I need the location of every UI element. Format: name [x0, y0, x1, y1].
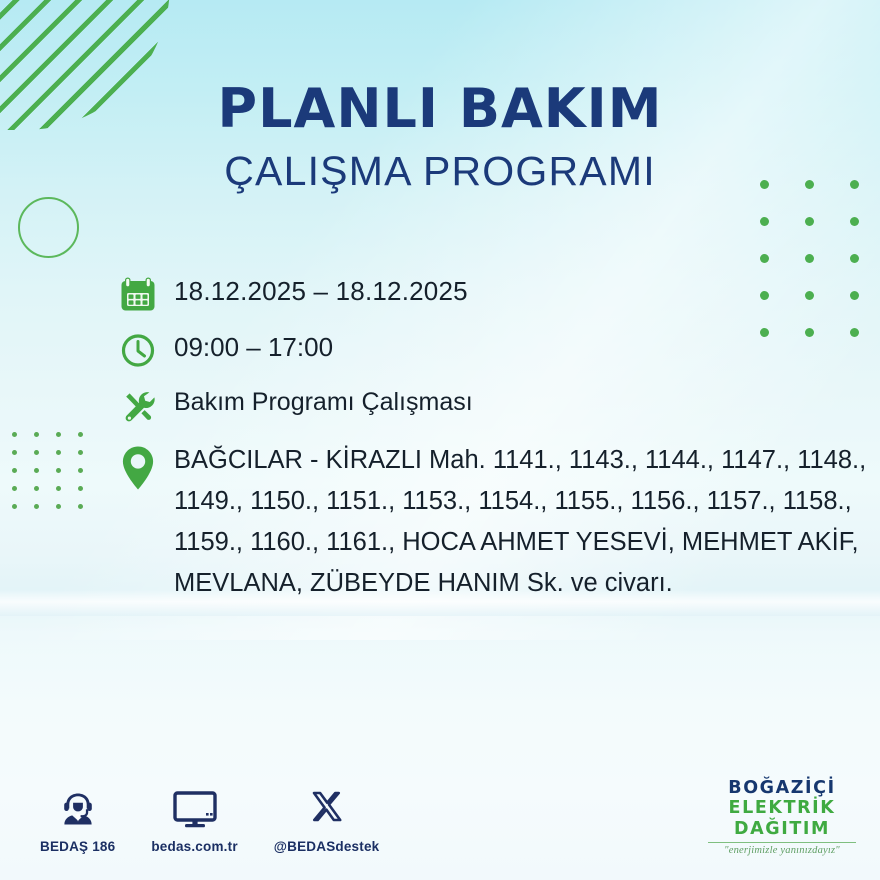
brand-line-bogazici: BOĞAZİÇİ	[702, 778, 862, 798]
detail-row-date: 18.12.2025 – 18.12.2025	[118, 272, 878, 314]
calendar-icon	[118, 272, 174, 314]
contact-phone[interactable]: BEDAŞ 186	[40, 780, 115, 854]
dot	[12, 432, 17, 437]
dot	[78, 486, 83, 491]
contact-list: BEDAŞ 186 bedas.com.tr	[40, 780, 415, 854]
dot	[56, 450, 61, 455]
dot	[760, 217, 769, 226]
dot	[12, 504, 17, 509]
dot	[78, 432, 83, 437]
contact-website-label: bedas.com.tr	[151, 839, 237, 854]
dot	[78, 468, 83, 473]
dot	[34, 432, 39, 437]
dot	[56, 468, 61, 473]
headset-operator-icon	[57, 780, 99, 830]
dot	[78, 450, 83, 455]
contact-website[interactable]: bedas.com.tr	[151, 780, 237, 854]
clock-icon	[118, 328, 174, 370]
dot	[34, 450, 39, 455]
dot	[805, 254, 814, 263]
dot	[12, 450, 17, 455]
location-text: BAĞCILAR - KİRAZLI Mah. 1141., 1143., 11…	[174, 440, 874, 604]
brand-line-elektrik: ELEKTRİK	[702, 798, 862, 818]
circle-outline-decoration	[18, 197, 79, 258]
dot-grid-left-decoration	[12, 432, 100, 522]
maintenance-details: 18.12.2025 – 18.12.2025 09:00 – 17:00	[118, 272, 878, 604]
contact-phone-label: BEDAŞ 186	[40, 839, 115, 854]
dot	[760, 254, 769, 263]
brand-line-dagitim: DAĞITIM	[702, 819, 862, 839]
dot	[56, 486, 61, 491]
poster-header: PLANLI BAKIM ÇALIŞMA PROGRAMI	[0, 82, 880, 195]
dot	[12, 468, 17, 473]
monitor-icon	[171, 780, 219, 830]
detail-row-work-type: Bakım Programı Çalışması	[118, 384, 878, 426]
planned-maintenance-poster: PLANLI BAKIM ÇALIŞMA PROGRAMI	[0, 0, 880, 880]
work-type-text: Bakım Programı Çalışması	[174, 384, 473, 415]
contact-social[interactable]: @BEDASdestek	[274, 780, 380, 854]
poster-footer: BEDAŞ 186 bedas.com.tr	[0, 780, 880, 880]
detail-row-time: 09:00 – 17:00	[118, 328, 878, 370]
detail-row-location: BAĞCILAR - KİRAZLI Mah. 1141., 1143., 11…	[118, 440, 878, 604]
date-range-text: 18.12.2025 – 18.12.2025	[174, 272, 468, 304]
dot	[34, 504, 39, 509]
dot	[56, 504, 61, 509]
page-title: PLANLI BAKIM	[0, 82, 880, 136]
dot	[78, 504, 83, 509]
brand-divider	[708, 842, 856, 844]
dot	[56, 432, 61, 437]
dot	[850, 217, 859, 226]
x-twitter-icon	[306, 780, 348, 830]
time-range-text: 09:00 – 17:00	[174, 328, 333, 360]
bedas-logo: BOĞAZİÇİ ELEKTRİK DAĞITIM "enerjimizle y…	[702, 778, 862, 856]
dot	[850, 254, 859, 263]
dot	[34, 486, 39, 491]
location-pin-icon	[118, 440, 174, 492]
page-subtitle: ÇALIŞMA PROGRAMI	[0, 148, 880, 195]
tools-icon	[118, 384, 174, 426]
dot	[12, 486, 17, 491]
dot	[34, 468, 39, 473]
contact-social-label: @BEDASdestek	[274, 839, 380, 854]
brand-tagline: "enerjimizle yanınızdayız"	[702, 845, 862, 856]
dot	[805, 217, 814, 226]
